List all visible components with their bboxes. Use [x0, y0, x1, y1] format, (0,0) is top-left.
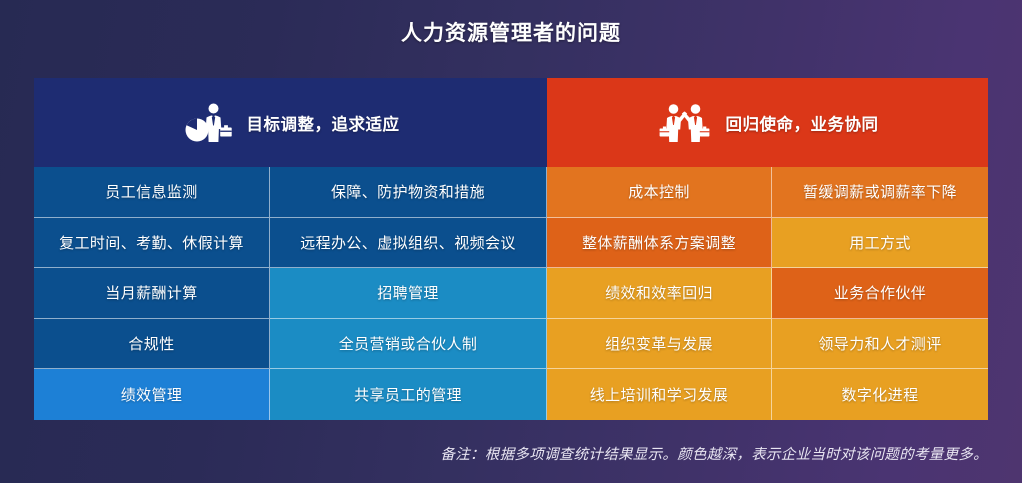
table-cell[interactable]: 整体薪酬体系方案调整: [547, 218, 772, 269]
table-cell[interactable]: 员工信息监测: [34, 167, 270, 218]
table-cell[interactable]: 绩效和效率回归: [547, 268, 772, 319]
table-cell[interactable]: 当月薪酬计算: [34, 268, 270, 319]
infographic-slide: 人力资源管理者的问题: [0, 0, 1022, 483]
table-row: 员工信息监测 保障、防护物资和措施 成本控制 暂缓调薪或调薪率下降: [34, 167, 988, 218]
table-cell[interactable]: 数字化进程: [772, 369, 988, 420]
table-cell[interactable]: 用工方式: [772, 218, 988, 269]
table-cell[interactable]: 复工时间、考勤、休假计算: [34, 218, 270, 269]
table-header-row: 目标调整，追求适应: [34, 78, 988, 167]
table-cell[interactable]: 绩效管理: [34, 369, 270, 420]
table-cell[interactable]: 保障、防护物资和措施: [270, 167, 547, 218]
table-cell[interactable]: 业务合作伙伴: [772, 268, 988, 319]
table-cell[interactable]: 招聘管理: [270, 268, 547, 319]
table-cell[interactable]: 远程办公、虚拟组织、视频会议: [270, 218, 547, 269]
page-title: 人力资源管理者的问题: [0, 17, 1022, 47]
table-cell[interactable]: 全员营销或合伙人制: [270, 319, 547, 370]
table-cell[interactable]: 组织变革与发展: [547, 319, 772, 370]
table-row: 复工时间、考勤、休假计算 远程办公、虚拟组织、视频会议 整体薪酬体系方案调整 用…: [34, 218, 988, 269]
table-row: 当月薪酬计算 招聘管理 绩效和效率回归 业务合作伙伴: [34, 268, 988, 319]
table-row: 绩效管理 共享员工的管理 线上培训和学习发展 数字化进程: [34, 369, 988, 420]
problems-table: 目标调整，追求适应: [34, 78, 988, 420]
table-cell[interactable]: 共享员工的管理: [270, 369, 547, 420]
table-body: 员工信息监测 保障、防护物资和措施 成本控制 暂缓调薪或调薪率下降 复工时间、考…: [34, 167, 988, 420]
table-cell[interactable]: 线上培训和学习发展: [547, 369, 772, 420]
header-cell-mission-return: 回归使命，业务协同: [547, 78, 988, 167]
table-row: 合规性 全员营销或合伙人制 组织变革与发展 领导力和人才测评: [34, 319, 988, 370]
pie-chart-businessman-icon: [182, 100, 234, 146]
two-businessmen-highfive-icon: [657, 100, 713, 146]
header-label-mission-return: 回归使命，业务协同: [726, 111, 879, 135]
table-cell[interactable]: 成本控制: [547, 167, 772, 218]
footnote-text: 备注：根据多项调查统计结果显示。颜色越深，表示企业当时对该问题的考量更多。: [440, 443, 988, 464]
header-label-goal-adjustment: 目标调整，追求适应: [247, 111, 400, 135]
table-cell[interactable]: 合规性: [34, 319, 270, 370]
header-cell-goal-adjustment: 目标调整，追求适应: [34, 78, 547, 167]
table-cell[interactable]: 暂缓调薪或调薪率下降: [772, 167, 988, 218]
table-cell[interactable]: 领导力和人才测评: [772, 319, 988, 370]
